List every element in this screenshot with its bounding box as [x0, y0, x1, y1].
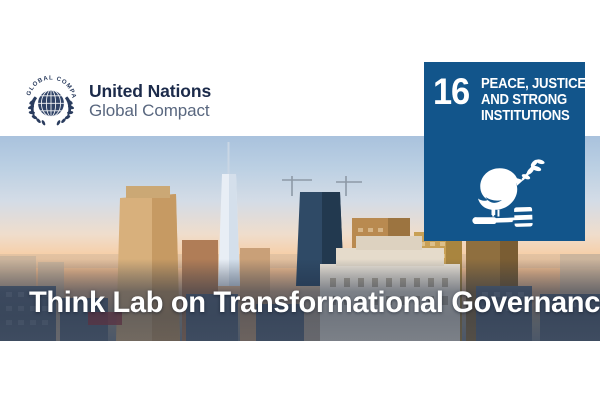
dove-with-olive-branch-and-gavel-icon: [470, 158, 546, 230]
sdg-goal-line-1: PEACE, JUSTICE: [481, 76, 585, 92]
event-banner: UN GLOBAL COMPACT: [0, 0, 600, 400]
sdg-goal-line-2: AND STRONG: [481, 92, 567, 108]
sdg-heading: 16 PEACE, JUSTICE AND STRONG INSTITUTION…: [424, 62, 585, 124]
un-global-compact-wordmark: United Nations Global Compact: [89, 81, 211, 121]
un-global-compact-logo[interactable]: UN GLOBAL COMPACT: [22, 72, 211, 130]
sdg-number: 16: [433, 76, 469, 107]
sdg-goal-title: PEACE, JUSTICE AND STRONG INSTITUTIONS: [481, 76, 585, 124]
wordmark-line-united-nations: United Nations: [89, 81, 211, 101]
sdg-goal-line-3: INSTITUTIONS: [481, 108, 570, 124]
un-global-compact-emblem: UN GLOBAL COMPACT: [22, 72, 80, 130]
wordmark-line-global-compact: Global Compact: [89, 101, 211, 121]
page-title: Think Lab on Transformational Governance: [29, 286, 581, 320]
sdg-16-panel[interactable]: 16 PEACE, JUSTICE AND STRONG INSTITUTION…: [424, 62, 585, 241]
